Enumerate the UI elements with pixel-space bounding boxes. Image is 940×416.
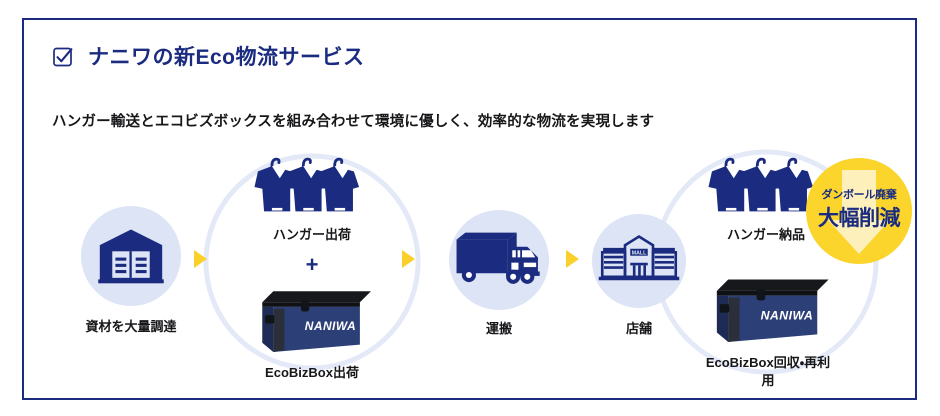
badge-line-2: 大幅削減 <box>806 202 912 232</box>
triangle-right-icon <box>566 250 579 268</box>
hanger-shipping-label: ハンガー出荷 <box>273 226 351 244</box>
truck-icon <box>453 227 545 293</box>
page-subtitle: ハンガー輸送とエコビズボックスを組み合わせて環境に優しく、効率的な物流を実現しま… <box>52 110 654 131</box>
status-badge: ダンボール廃棄 大幅削減 <box>806 158 912 264</box>
step-store: MALL 店舗 <box>584 214 694 364</box>
store-disc: MALL <box>592 214 686 308</box>
plus-icon: + <box>306 254 319 276</box>
step-transport: 運搬 <box>440 210 558 362</box>
process-flow: 資材を大量調達 <box>24 138 919 400</box>
step-hanger-shipping: ハンガー出荷 <box>242 152 382 248</box>
triangle-right-icon <box>402 250 415 268</box>
step-procurement: 資材を大量調達 <box>72 206 190 366</box>
procurement-disc <box>81 206 181 306</box>
step-ecobizbox-shipping: NANIWA EcoBizBox出荷 <box>236 278 388 388</box>
ecobizbox-return-label: EcoBizBox回収・再利用 <box>703 354 833 389</box>
store-sign-text: MALL <box>632 250 647 256</box>
transport-label: 運搬 <box>486 320 512 338</box>
store-label: 店舗 <box>626 320 652 338</box>
ecobizbox-icon: NANIWA <box>696 266 840 346</box>
infographic-root: ナニワの新Eco物流サービス ハンガー輸送とエコビズボックスを組み合わせて環境に… <box>0 0 940 416</box>
step-ecobizbox-return: NANIWA EcoBizBox回収・再利用 <box>692 266 844 392</box>
header: ナニワの新Eco物流サービス <box>52 46 365 68</box>
content-card: ナニワの新Eco物流サービス ハンガー輸送とエコビズボックスを組み合わせて環境に… <box>22 18 917 400</box>
hanger-delivery-label: ハンガー納品 <box>727 226 805 244</box>
checkbox-checked-icon <box>52 46 74 68</box>
badge-line-1: ダンボール廃棄 <box>806 186 912 202</box>
page-title: ナニワの新Eco物流サービス <box>88 47 365 68</box>
shirts-on-hangers-icon <box>251 152 373 222</box>
transport-disc <box>449 210 549 310</box>
warehouse-icon <box>92 217 170 295</box>
procurement-label: 資材を大量調達 <box>85 318 176 336</box>
store-icon: MALL <box>595 233 683 289</box>
ecobizbox-icon: NANIWA <box>242 278 382 356</box>
ecobizbox-shipping-label: EcoBizBox出荷 <box>265 364 359 382</box>
ecobizbox-brand-text: NANIWA <box>305 319 356 333</box>
ecobizbox-brand-text: NANIWA <box>761 308 814 322</box>
triangle-right-icon <box>194 250 207 268</box>
